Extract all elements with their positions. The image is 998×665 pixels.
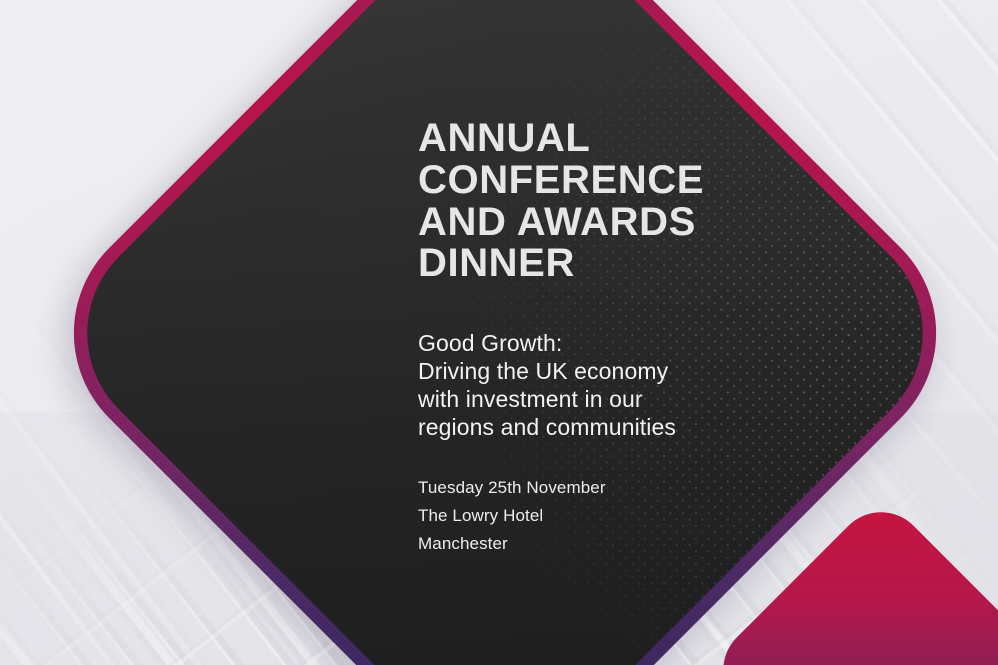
page-title: ANNUAL CONFERENCE AND AWARDS DINNER	[418, 118, 778, 285]
poster-content: ANNUAL CONFERENCE AND AWARDS DINNER Good…	[418, 118, 778, 557]
event-details: Tuesday 25th November The Lowry Hotel Ma…	[418, 474, 778, 557]
poster-canvas: ANNUAL CONFERENCE AND AWARDS DINNER Good…	[0, 0, 998, 665]
poster-subtitle: Good Growth: Driving the UK economy with…	[418, 329, 778, 441]
